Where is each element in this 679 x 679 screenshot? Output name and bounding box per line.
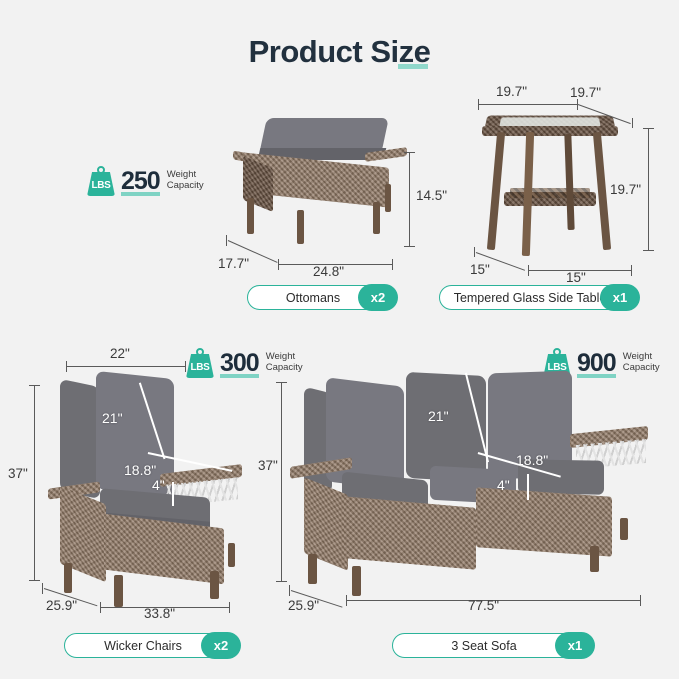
ottoman-depth-tick <box>226 235 227 246</box>
pill-ottomans[interactable]: Ottomans x2 <box>247 285 397 310</box>
ottoman-width-tick-right <box>392 259 393 270</box>
page-title-wrap: Product Size <box>0 34 679 70</box>
side-table-top-left-tick <box>478 99 479 110</box>
sofa-leg-2 <box>352 566 361 596</box>
sofa-height-line <box>281 382 282 582</box>
weight-value-wrap: 250 <box>121 169 160 194</box>
sofa-leg-3 <box>590 546 599 572</box>
chair-leg-3 <box>210 571 219 599</box>
ottoman-image <box>225 118 415 248</box>
side-table-shelf-lattice <box>510 188 590 198</box>
sofa-width-tick-right <box>640 595 641 606</box>
side-table-image <box>480 108 625 260</box>
pill-side-table[interactable]: Tempered Glass Side Table x1 <box>439 285 639 310</box>
sofa-leg-4 <box>620 518 628 540</box>
ottoman-width-tick-left <box>278 259 279 270</box>
sofa-height-tick-top <box>276 382 287 383</box>
sofa-cushion-thickness-line <box>527 474 529 500</box>
sofa-back-height-label: 21" <box>428 408 449 424</box>
chair-height-tick-top <box>29 385 40 386</box>
weight-badge-ottoman: LBS 250 Weight Capacity <box>86 166 204 196</box>
side-table-base-left-tick <box>474 247 475 257</box>
chair-width-tick-right <box>229 602 230 613</box>
weight-icon: LBS <box>86 166 116 196</box>
sofa-cushion-thickness-label: 4" <box>497 477 510 493</box>
side-table-leg-2 <box>593 132 611 250</box>
chair-seat-width-label: 22" <box>110 346 130 361</box>
weight-icon-body: LBS <box>87 172 115 196</box>
weight-icon: LBS <box>185 348 215 378</box>
sofa-back-cushion-2 <box>406 372 486 482</box>
title-underline-accent <box>398 64 428 69</box>
side-table-height-tick-bottom <box>643 250 654 251</box>
side-table-top-left-label: 19.7" <box>496 84 527 99</box>
ottoman-width-label: 24.8" <box>313 264 344 279</box>
sofa-height-label: 37" <box>258 458 278 473</box>
sofa-width-label: 77.5" <box>468 598 499 613</box>
chair-leg-1 <box>64 563 72 593</box>
chair-leg-4 <box>228 543 235 567</box>
side-table-base-right-label: 15" <box>566 270 586 285</box>
ottoman-height-label: 14.5" <box>416 188 447 203</box>
pill-wicker-chairs[interactable]: Wicker Chairs x2 <box>64 633 240 658</box>
chair-seat-width-line <box>66 366 186 367</box>
weight-value-underline <box>121 192 160 196</box>
weight-caption: Weight Capacity <box>167 170 204 192</box>
sofa-width-tick-left <box>346 595 347 606</box>
sofa-depth-tick <box>289 585 290 596</box>
weight-icon-label: LBS <box>190 362 209 373</box>
pill-wicker-chairs-label: Wicker Chairs <box>104 639 182 653</box>
side-table-base-left-label: 15" <box>470 262 490 277</box>
chair-seat-width-tick-right <box>185 361 186 372</box>
side-table-height-tick-top <box>643 128 654 129</box>
chair-cushion-thickness-line <box>172 482 174 506</box>
weight-value: 250 <box>121 169 160 194</box>
pill-sofa-qty: x1 <box>555 632 595 659</box>
pill-wicker-chairs-qty: x2 <box>201 632 241 659</box>
pill-ottomans-qty: x2 <box>358 284 398 311</box>
chair-height-label: 37" <box>8 466 28 481</box>
side-table-height-label: 19.7" <box>610 182 641 197</box>
ottoman-leg-4 <box>385 184 391 212</box>
side-table-top-right-label: 19.7" <box>570 85 601 100</box>
sofa-seat-depth-label: 18.8" <box>516 452 548 468</box>
chair-seat-depth-label: 18.8" <box>124 462 156 478</box>
sofa-image <box>290 368 650 598</box>
sofa-height-tick-bottom <box>276 581 287 582</box>
side-table-top-left-line <box>478 104 578 105</box>
sofa-front-panel-left <box>344 496 476 570</box>
weight-badge-chair: LBS 300 Weight Capacity <box>185 348 303 378</box>
chair-seat-width-tick-left <box>66 361 67 372</box>
chair-depth-tick <box>42 583 43 594</box>
pill-side-table-label: Tempered Glass Side Table <box>454 291 607 305</box>
chair-width-label: 33.8" <box>144 606 175 621</box>
chair-height-line <box>34 385 35 581</box>
side-table-top-right-tick <box>632 118 633 128</box>
side-table-base-right-tick-right <box>631 265 632 276</box>
pill-sofa-label: 3 Seat Sofa <box>451 639 516 653</box>
pill-sofa[interactable]: 3 Seat Sofa x1 <box>392 633 594 658</box>
ottoman-leg-2 <box>297 210 304 244</box>
ottoman-leg-3 <box>373 202 380 234</box>
side-table-leg-4 <box>564 134 574 230</box>
ottoman-height-tick-bottom <box>404 246 415 247</box>
weight-icon-label: LBS <box>91 180 110 191</box>
sofa-depth-label: 25.9" <box>288 598 319 613</box>
chair-back-height-label: 21" <box>102 410 123 426</box>
weight-value-wrap: 300 <box>220 351 259 376</box>
chair-leg-2 <box>114 575 123 607</box>
chair-width-tick-left <box>100 602 101 613</box>
side-table-base-right-tick-left <box>528 265 529 276</box>
sofa-leg-1 <box>308 554 317 584</box>
ottoman-depth-label: 17.7" <box>218 256 249 271</box>
weight-value: 300 <box>220 351 259 376</box>
ottoman-height-line <box>409 152 410 246</box>
weight-caption-line2: Capacity <box>167 181 204 192</box>
product-size-infographic: Product Size LBS 250 Weight Capacity <box>0 0 679 679</box>
pill-ottomans-label: Ottomans <box>286 291 340 305</box>
chair-height-tick-bottom <box>29 580 40 581</box>
ottoman-height-tick-top <box>404 152 415 153</box>
chair-depth-label: 25.9" <box>46 598 77 613</box>
side-table-height-line <box>648 128 649 250</box>
ottoman-leg-1 <box>247 198 254 234</box>
pill-side-table-qty: x1 <box>600 284 640 311</box>
page-title: Product Size <box>249 34 431 70</box>
side-table-leg-1 <box>487 132 505 250</box>
chair-cushion-thickness-label: 4" <box>152 477 165 493</box>
